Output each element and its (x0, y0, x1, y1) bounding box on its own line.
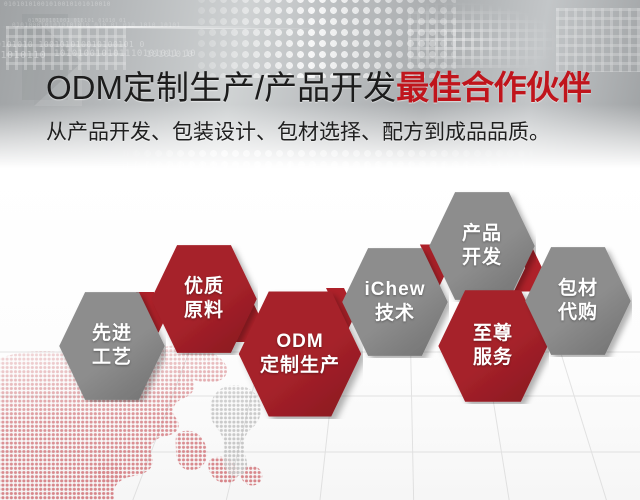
hexagon-shape (428, 190, 536, 302)
flow-node-packaging-purchase[interactable]: 包材代购 (524, 245, 632, 357)
hexagon-shape (524, 245, 632, 357)
process-flow-diagram: 先进工艺优质原料ODM定制生产iChew技术产品开发至尊服务包材代购 (0, 0, 640, 500)
flow-node-product-development[interactable]: 产品开发 (428, 190, 536, 302)
promo-banner-stage: 01010101001010010101010010 010100101001 … (0, 0, 640, 500)
